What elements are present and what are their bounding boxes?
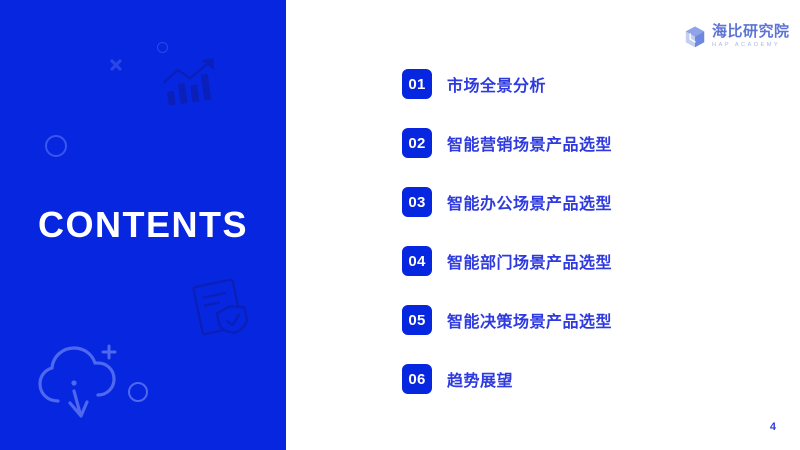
list-item[interactable]: 04 智能部门场景产品选型 <box>402 246 612 276</box>
item-label: 市场全景分析 <box>447 72 546 96</box>
document-shield-icon <box>192 277 252 339</box>
slide-root: CONTENTS 01 市场全景分析 02 智能营销场景产品选型 03 智能办公… <box>0 0 800 450</box>
logo-text-block: 海比研究院 HAP ACADEMY <box>712 24 790 49</box>
list-item[interactable]: 05 智能决策场景产品选型 <box>402 305 612 335</box>
list-item[interactable]: 01 市场全景分析 <box>402 69 546 99</box>
medium-circle-outline <box>45 135 67 157</box>
small-circle-outline <box>157 42 168 53</box>
page-title: CONTENTS <box>0 205 286 245</box>
list-item[interactable]: 03 智能办公场景产品选型 <box>402 187 612 217</box>
bottom-circle-outline <box>128 382 148 402</box>
item-number-badge: 05 <box>402 305 432 335</box>
item-label: 智能决策场景产品选型 <box>447 308 612 332</box>
list-item[interactable]: 02 智能营销场景产品选型 <box>402 128 612 158</box>
growth-chart-icon <box>160 58 226 110</box>
page-number: 4 <box>770 421 776 433</box>
item-label: 智能部门场景产品选型 <box>447 249 612 273</box>
brand-logo: 海比研究院 HAP ACADEMY <box>684 24 790 49</box>
item-number-badge: 02 <box>402 128 432 158</box>
left-title-panel: CONTENTS <box>0 0 286 450</box>
logo-name-cn: 海比研究院 <box>712 24 790 40</box>
logo-name-en: HAP ACADEMY <box>712 41 790 49</box>
item-label: 智能营销场景产品选型 <box>447 131 612 155</box>
item-label: 智能办公场景产品选型 <box>447 190 612 214</box>
item-number-badge: 04 <box>402 246 432 276</box>
cube-logo-icon <box>684 25 706 49</box>
item-number-badge: 03 <box>402 187 432 217</box>
item-number-badge: 01 <box>402 69 432 99</box>
item-number-badge: 06 <box>402 364 432 394</box>
list-item[interactable]: 06 趋势展望 <box>402 364 513 394</box>
plus-mark-icon <box>101 344 117 360</box>
item-label: 趋势展望 <box>447 367 513 391</box>
cross-mark-icon <box>108 57 124 73</box>
